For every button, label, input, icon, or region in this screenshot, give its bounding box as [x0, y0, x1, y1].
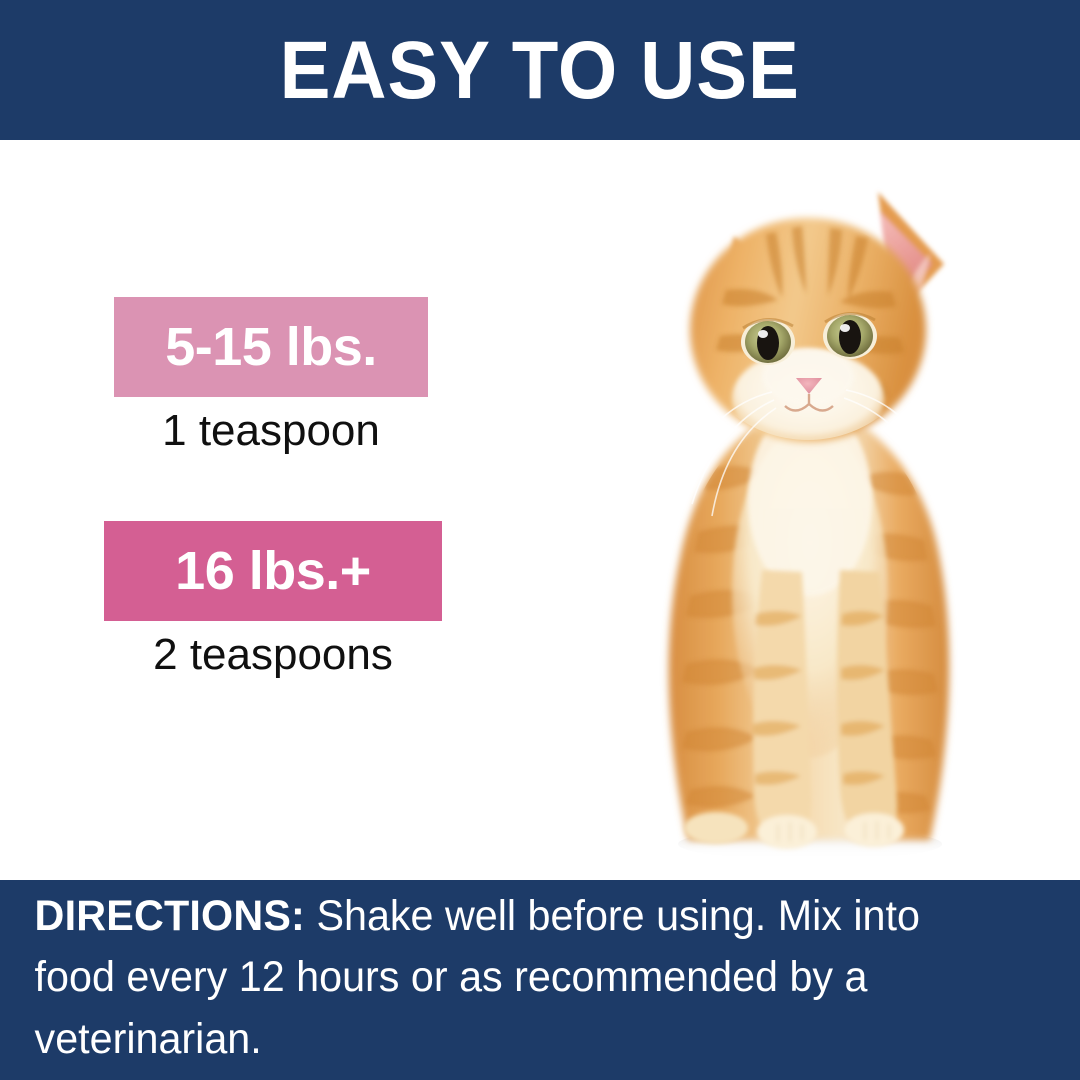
weight-badge-small: 5-15 lbs. [114, 297, 428, 397]
directions-lead-label: DIRECTIONS: [35, 892, 305, 940]
weight-range-label: 5-15 lbs. [165, 320, 377, 374]
cat-illustration [540, 140, 1080, 880]
page-title: EASY TO USE [280, 30, 800, 112]
weight-badge-large: 16 lbs.+ [104, 521, 442, 621]
directions-banner: DIRECTIONS: Shake well before using. Mix… [0, 880, 1080, 1080]
dosage-list: 5-15 lbs. 1 teaspoon 16 lbs.+ 2 teaspoon… [0, 140, 560, 880]
directions-text: DIRECTIONS: Shake well before using. Mix… [0, 886, 1037, 1069]
infographic-card: EASY TO USE 5-15 lbs. 1 teaspoon 16 lbs.… [0, 0, 1080, 1080]
dosage-section: 5-15 lbs. 1 teaspoon 16 lbs.+ 2 teaspoon… [0, 140, 1080, 880]
dosage-row-large: 16 lbs.+ 2 teaspoons [104, 521, 442, 681]
cat-photo [540, 140, 1080, 880]
header-banner: EASY TO USE [0, 0, 1080, 140]
weight-range-label: 16 lbs.+ [175, 544, 371, 598]
dose-amount-label: 2 teaspoons [104, 630, 442, 681]
dosage-row-small: 5-15 lbs. 1 teaspoon [114, 297, 428, 457]
dose-amount-label: 1 teaspoon [114, 406, 428, 457]
